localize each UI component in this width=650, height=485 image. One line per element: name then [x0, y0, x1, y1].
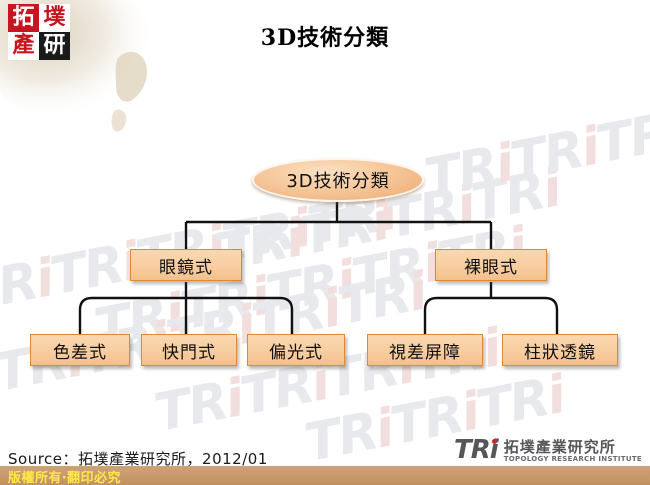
copyright-notice: 版權所有‧翻印必究: [8, 467, 121, 485]
tri-chinese-name: 拓墣產業研究所: [504, 440, 642, 456]
tree-node-glasses-type[interactable]: 眼鏡式: [130, 249, 242, 281]
tree-leaf-shutter[interactable]: 快門式: [141, 334, 237, 366]
tree-diagram: 3D技術分類 眼鏡式 裸眼式 色差式 快門式 偏光式 視差屏障 柱狀透鏡: [0, 0, 650, 440]
tree-leaf-anaglyph[interactable]: 色差式: [30, 334, 130, 366]
slide-canvas: TRiTRiTRiTRiTRi TRiTRiTRiTRiTRi TRiTRiTR…: [0, 0, 650, 485]
tree-leaf-lenticular-lens[interactable]: 柱狀透鏡: [502, 334, 618, 366]
footer-bar: 版權所有‧翻印必究: [0, 466, 650, 485]
tri-wordmark: TRi: [454, 438, 498, 463]
tree-node-naked-eye-type[interactable]: 裸眼式: [435, 249, 547, 281]
tri-brand-logo: TRi 拓墣產業研究所 TOPOLOGY RESEARCH INSTITUTE: [454, 438, 642, 463]
tri-english-name: TOPOLOGY RESEARCH INSTITUTE: [504, 456, 642, 463]
tree-leaf-parallax-barrier[interactable]: 視差屏障: [367, 334, 483, 366]
tree-leaf-polarized[interactable]: 偏光式: [247, 334, 345, 366]
tree-connectors: [0, 0, 650, 440]
tree-node-root[interactable]: 3D技術分類: [252, 158, 424, 202]
tri-logo-words: 拓墣產業研究所 TOPOLOGY RESEARCH INSTITUTE: [504, 440, 642, 463]
